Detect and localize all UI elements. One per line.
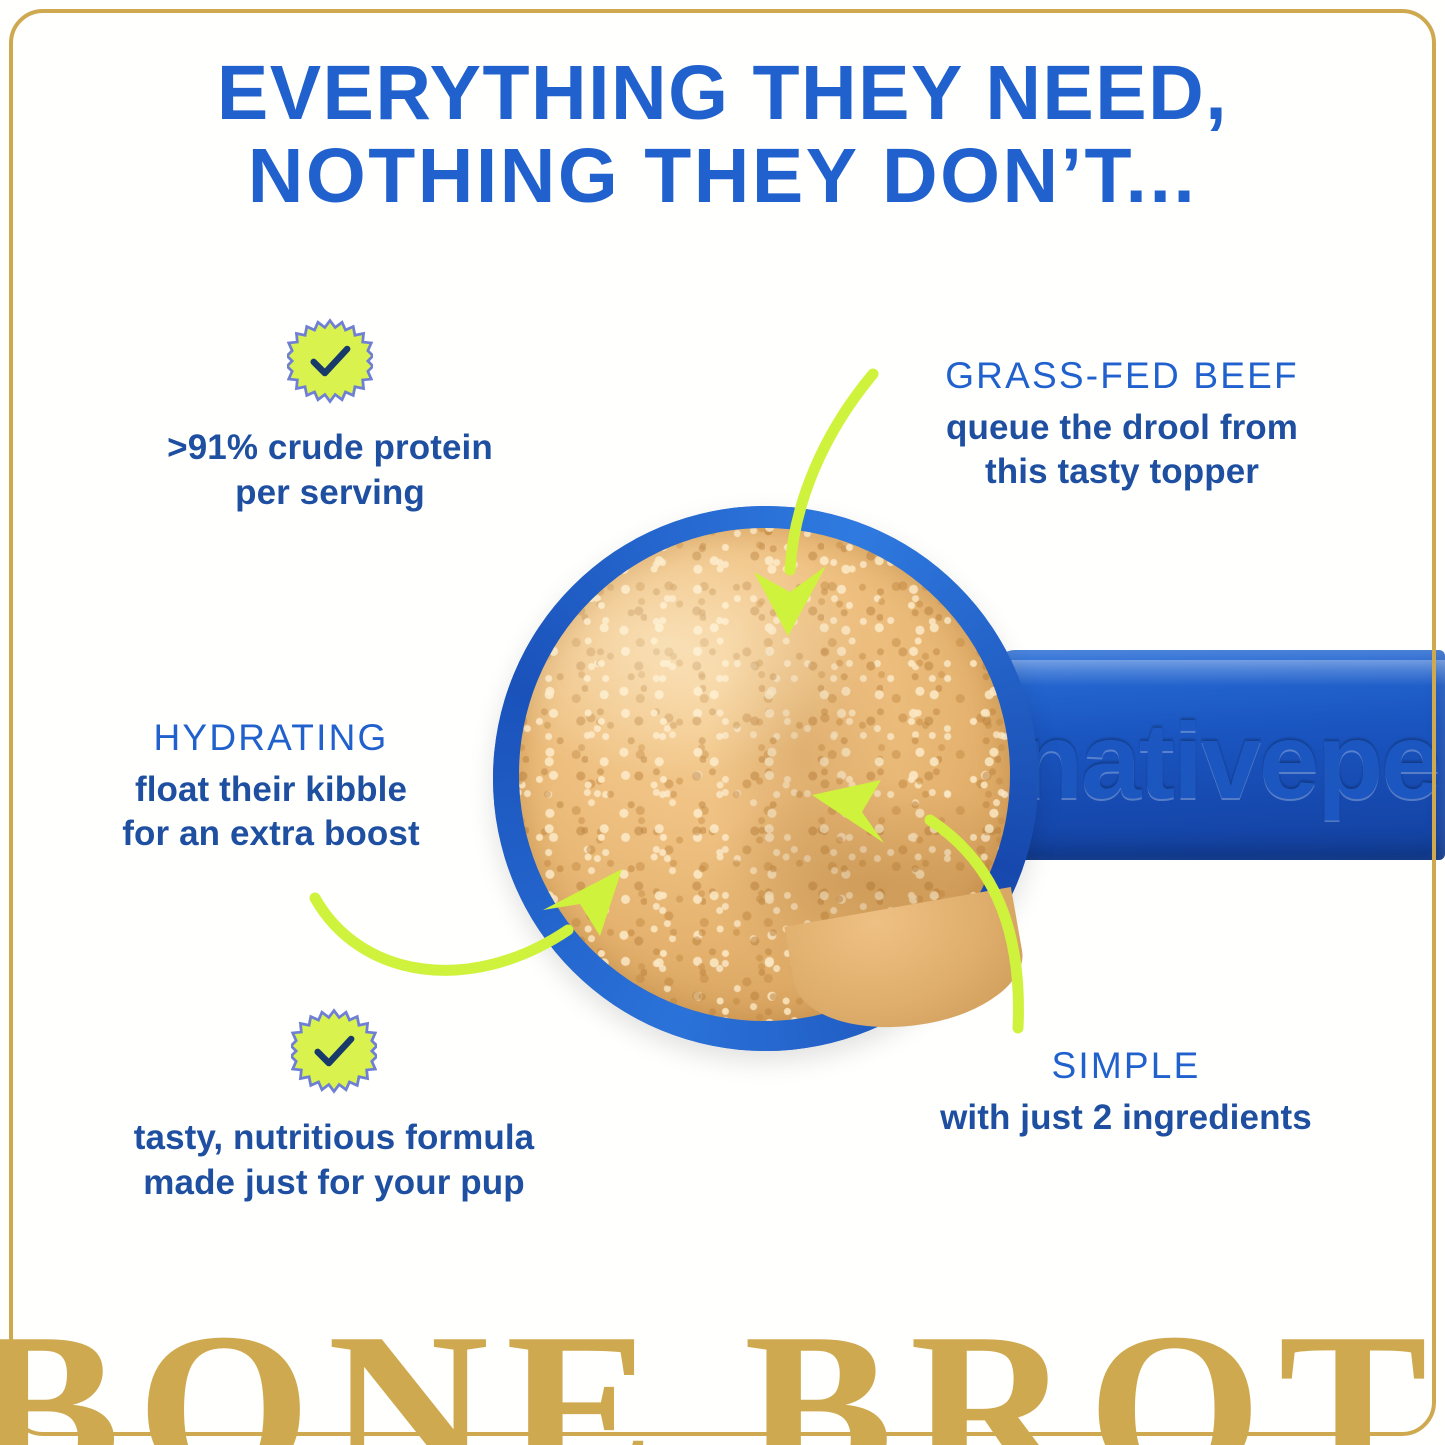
callout-body-line-2: per serving (74, 471, 586, 516)
check-starburst-badge-icon (291, 1008, 377, 1094)
callout-title: SIMPLE (880, 1046, 1372, 1087)
callout-body-line-2: this tasty topper (872, 450, 1372, 495)
callout-body: tasty, nutritious formula made just for … (50, 1116, 618, 1206)
product-scoop-image: nativepe (455, 498, 1445, 1058)
page-title: EVERYTHING THEY NEED, NOTHING THEY DON’T… (0, 52, 1445, 218)
callout-body: >91% crude protein per serving (74, 426, 586, 516)
brand-emboss-text: nativepe (1017, 698, 1439, 823)
callout-body-line-1: with just 2 ingredients (880, 1096, 1372, 1141)
callout-body-line-1: tasty, nutritious formula (50, 1116, 618, 1161)
callout-body-line-1: queue the drool from (872, 406, 1372, 451)
callout-body: with just 2 ingredients (880, 1096, 1372, 1141)
callout-body-line-1: float their kibble (36, 768, 506, 813)
infographic-canvas: EVERYTHING THEY NEED, NOTHING THEY DON’T… (0, 0, 1445, 1445)
check-starburst-badge-icon (287, 318, 373, 404)
callout-tasty-formula: tasty, nutritious formula made just for … (50, 1008, 618, 1206)
callout-title: HYDRATING (36, 718, 506, 759)
headline-line-2: NOTHING THEY DON’T... (0, 135, 1445, 218)
bone-broth-wordmark: BONE BROTH (0, 1300, 1445, 1445)
callout-grass-fed-beef: GRASS-FED BEEF queue the drool from this… (872, 356, 1372, 495)
scoop-handle: nativepe (995, 650, 1445, 860)
callout-simple: SIMPLE with just 2 ingredients (880, 1046, 1372, 1140)
callout-crude-protein: >91% crude protein per serving (74, 318, 586, 516)
callout-body: float their kibble for an extra boost (36, 768, 506, 858)
callout-hydrating: HYDRATING float their kibble for an extr… (36, 718, 506, 857)
scoop-cup (493, 506, 1038, 1051)
callout-body: queue the drool from this tasty topper (872, 406, 1372, 496)
callout-title: GRASS-FED BEEF (872, 356, 1372, 397)
callout-body-line-2: made just for your pup (50, 1161, 618, 1206)
callout-body-line-1: >91% crude protein (74, 426, 586, 471)
callout-body-line-2: for an extra boost (36, 812, 506, 857)
headline-line-1: EVERYTHING THEY NEED, (0, 52, 1445, 135)
